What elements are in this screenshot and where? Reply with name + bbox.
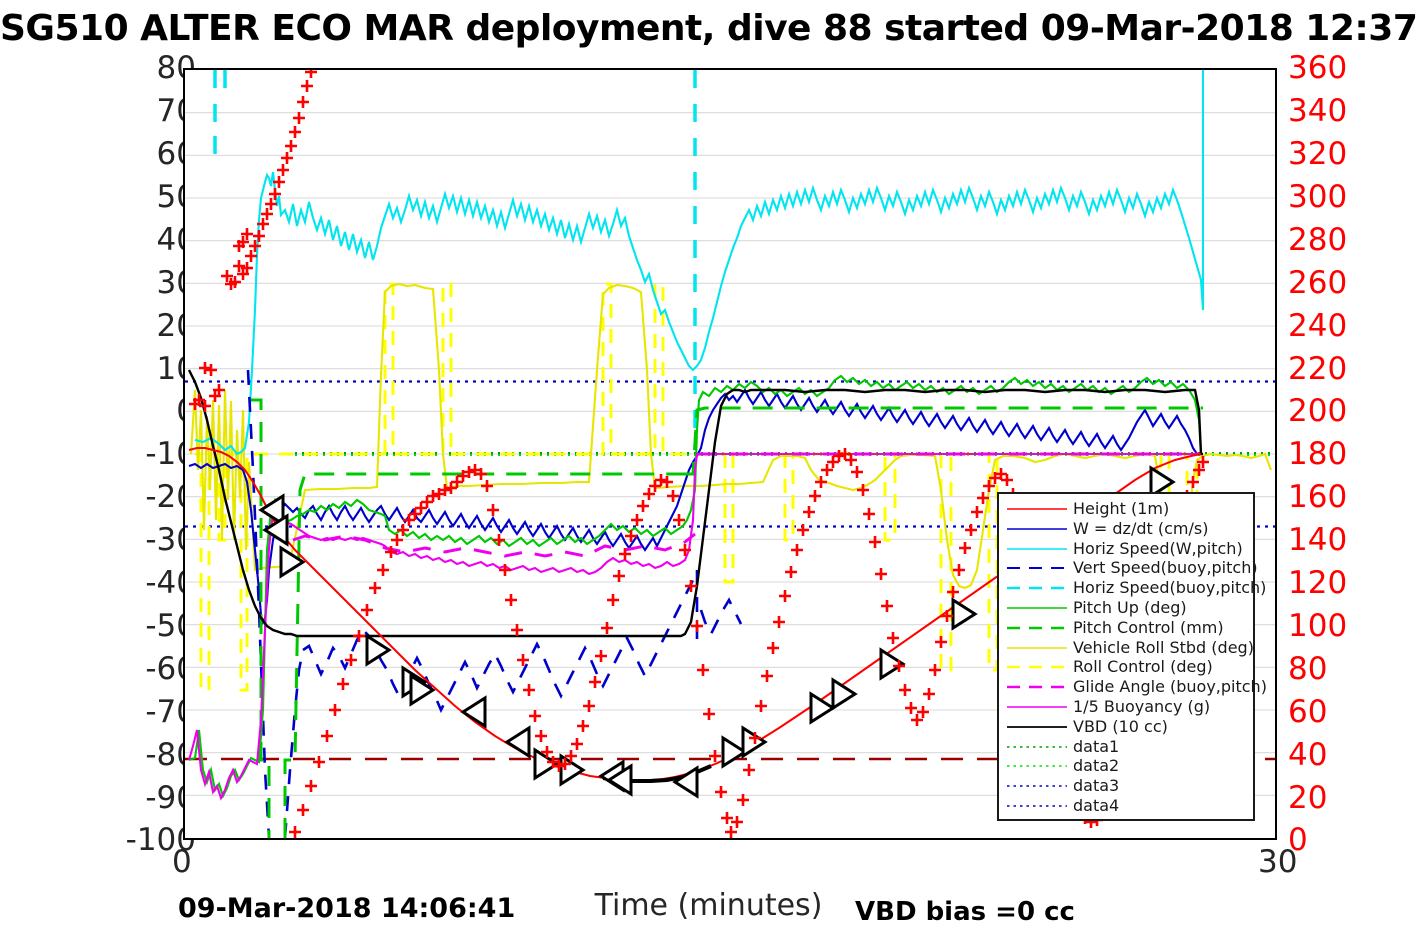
legend-line-swatch	[1006, 578, 1068, 598]
series-horiz-speed-w-pitch	[195, 70, 1203, 454]
xtick-30: 30	[1258, 847, 1297, 878]
legend-line-swatch	[1006, 677, 1068, 697]
ytick-right-5: 260	[1288, 268, 1347, 299]
series-horiz-speed-buoy-pitch	[215, 70, 695, 440]
legend-item-label: data1	[1073, 737, 1119, 757]
legend-item[interactable]: Vert Speed(buoy,pitch)	[999, 558, 1253, 578]
legend-item-label: data3	[1073, 776, 1119, 796]
legend-line-swatch	[1006, 697, 1068, 717]
page-title: SG510 ALTER ECO MAR deployment, dive 88 …	[0, 8, 1417, 49]
legend-item[interactable]: VBD (10 cc)	[999, 717, 1253, 737]
chart-legend: Height (1m)W = dz/dt (cm/s)Horiz Speed(W…	[997, 492, 1255, 821]
legend-item-label: Vert Speed(buoy,pitch)	[1073, 558, 1258, 578]
legend-item[interactable]: data3	[999, 776, 1253, 796]
legend-line-swatch	[1006, 657, 1068, 677]
legend-line-swatch	[1006, 519, 1068, 539]
ytick-right-8: 200	[1288, 396, 1347, 427]
legend-item[interactable]: 1/5 Buoyancy (g)	[999, 697, 1253, 717]
ytick-right-7: 220	[1288, 354, 1347, 385]
ytick-right-14: 80	[1288, 654, 1327, 685]
legend-line-swatch	[1006, 737, 1068, 757]
legend-item[interactable]: Pitch Control (mm)	[999, 618, 1253, 638]
ytick-right-15: 60	[1288, 697, 1327, 728]
legend-item[interactable]: Horiz Speed(buoy,pitch)	[999, 578, 1253, 598]
legend-line-swatch	[1006, 499, 1068, 519]
legend-item[interactable]: Pitch Up (deg)	[999, 598, 1253, 618]
legend-item-label: VBD (10 cc)	[1073, 717, 1168, 737]
ytick-right-2: 320	[1288, 139, 1347, 170]
ytick-right-12: 120	[1288, 568, 1347, 599]
legend-item-label: Horiz Speed(W,pitch)	[1073, 539, 1243, 559]
ytick-right-10: 160	[1288, 482, 1347, 513]
legend-item-label: data2	[1073, 756, 1119, 776]
legend-item[interactable]: data1	[999, 737, 1253, 757]
dive-end-timestamp: 09-Mar-2018 14:06:41	[178, 893, 515, 924]
legend-item[interactable]: W = dz/dt (cm/s)	[999, 519, 1253, 539]
legend-item-label: Vehicle Roll Stbd (deg)	[1073, 638, 1254, 658]
legend-line-swatch	[1006, 717, 1068, 737]
legend-item[interactable]: Vehicle Roll Stbd (deg)	[999, 638, 1253, 658]
legend-item-label: data4	[1073, 796, 1119, 816]
legend-item-label: Height (1m)	[1073, 499, 1169, 519]
legend-line-swatch	[1006, 598, 1068, 618]
legend-line-swatch	[1006, 539, 1068, 559]
legend-item[interactable]: data4	[999, 796, 1253, 816]
legend-item-label: Pitch Up (deg)	[1073, 598, 1187, 618]
vbd-bias-label: VBD bias =0 cc	[855, 897, 1075, 927]
legend-line-swatch	[1006, 756, 1068, 776]
legend-item[interactable]: Glide Angle (buoy,pitch)	[999, 677, 1253, 697]
ytick-right-9: 180	[1288, 439, 1347, 470]
ytick-right-1: 340	[1288, 96, 1347, 127]
legend-item-label: Roll Control (deg)	[1073, 657, 1213, 677]
ytick-right-16: 40	[1288, 740, 1327, 771]
ytick-right-11: 140	[1288, 525, 1347, 556]
legend-item[interactable]: Height (1m)	[999, 499, 1253, 519]
ytick-right-13: 100	[1288, 611, 1347, 642]
legend-item-label: Horiz Speed(buoy,pitch)	[1073, 578, 1266, 598]
ytick-right-3: 300	[1288, 182, 1347, 213]
legend-item[interactable]: data2	[999, 756, 1253, 776]
legend-line-swatch	[1006, 638, 1068, 658]
legend-item-label: Glide Angle (buoy,pitch)	[1073, 677, 1267, 697]
legend-item-label: W = dz/dt (cm/s)	[1073, 519, 1208, 539]
ytick-right-0: 360	[1288, 53, 1347, 84]
ytick-right-6: 240	[1288, 311, 1347, 342]
xtick-0: 0	[172, 847, 192, 878]
legend-line-swatch	[1006, 796, 1068, 816]
legend-line-swatch	[1006, 618, 1068, 638]
ytick-right-4: 280	[1288, 225, 1347, 256]
legend-line-swatch	[1006, 558, 1068, 578]
legend-item[interactable]: Roll Control (deg)	[999, 657, 1253, 677]
legend-line-swatch	[1006, 776, 1068, 796]
ytick-right-17: 20	[1288, 783, 1327, 814]
legend-item-label: 1/5 Buoyancy (g)	[1073, 697, 1210, 717]
legend-item[interactable]: Horiz Speed(W,pitch)	[999, 539, 1253, 559]
series-vert-speed-buoy-pitch	[248, 370, 741, 838]
legend-item-label: Pitch Control (mm)	[1073, 618, 1224, 638]
